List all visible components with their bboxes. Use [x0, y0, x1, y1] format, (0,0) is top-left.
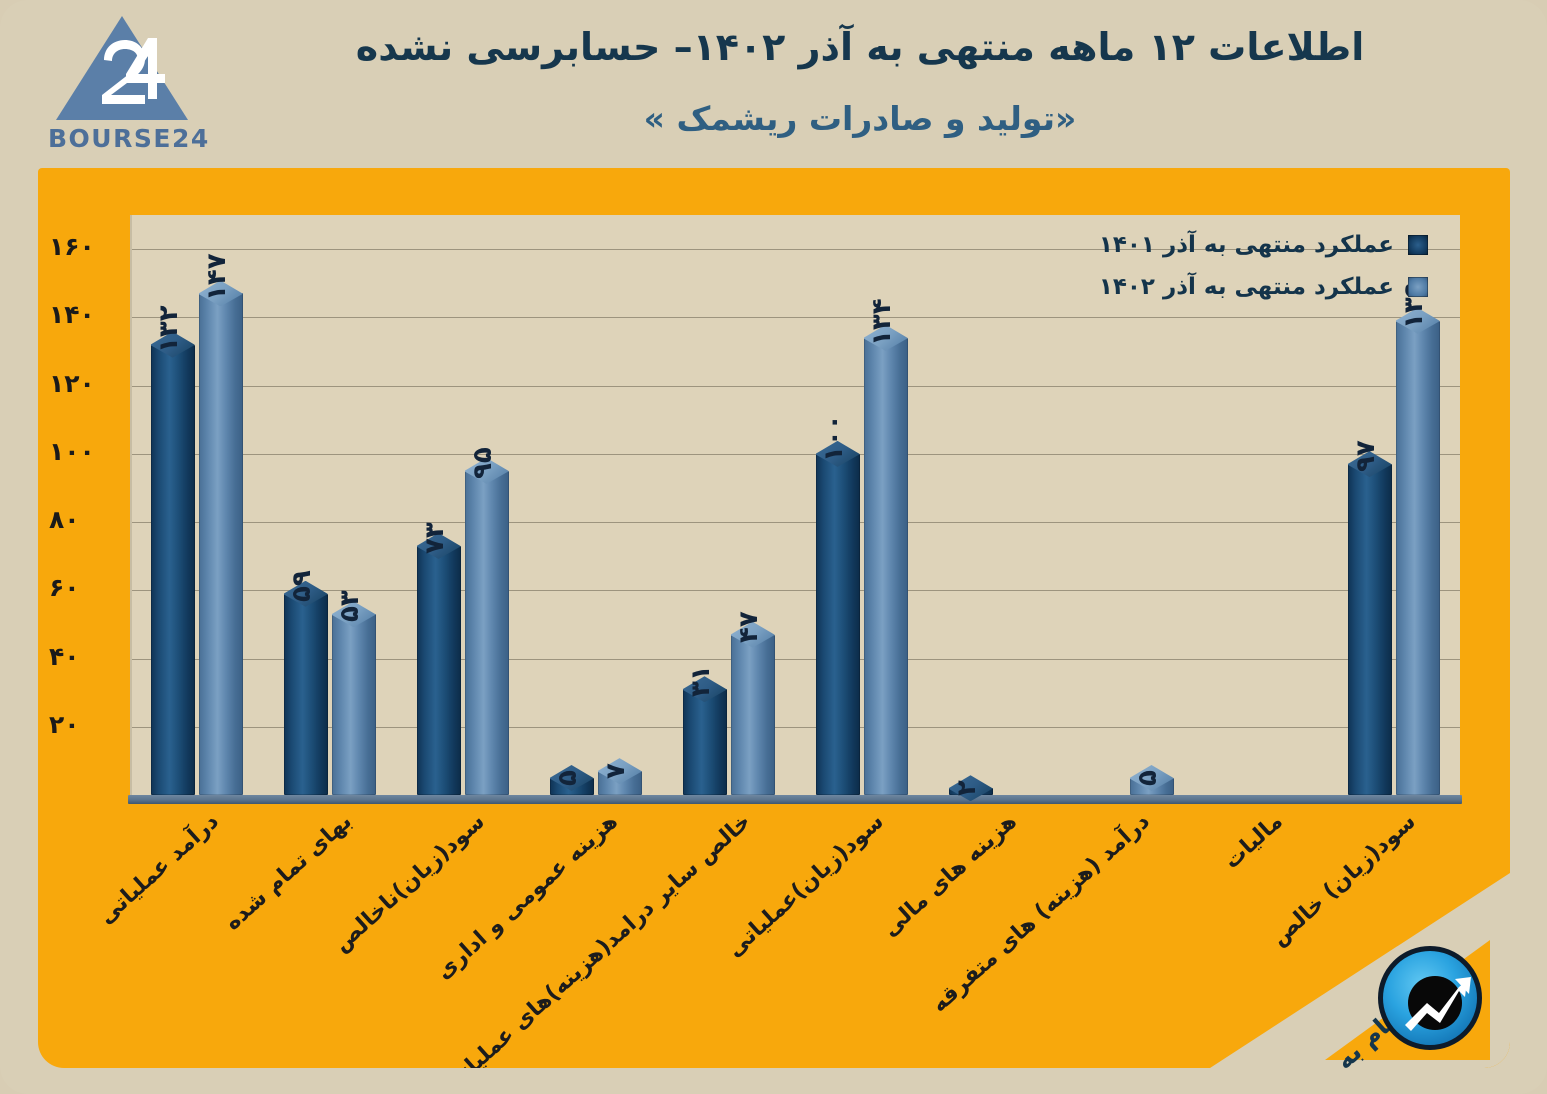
legend-swatch-icon — [1408, 277, 1428, 297]
chart-legend: عملکرد منتهی به آذر ۱۴۰۱عملکرد منتهی به … — [1098, 224, 1428, 308]
bar-value-label: ۹۵ — [468, 447, 498, 479]
title-block: اطلاعات ۱۲ ماهه منتهی به آذر ۱۴۰۲– حسابر… — [220, 22, 1500, 138]
gridline — [132, 522, 1460, 523]
bar-value-label: ۲ — [952, 780, 982, 796]
bourse24-arrow-badge-icon — [1378, 946, 1482, 1050]
bar-value-label: ۵۹ — [287, 570, 317, 602]
bar-value-label: ۵ — [1133, 770, 1163, 786]
y-axis-tick-label: ۸۰ — [49, 505, 123, 534]
gridline — [132, 386, 1460, 387]
bar-value-label: ۱۳۴ — [867, 298, 897, 346]
y-axis-tick-label: ۱۰۰ — [49, 437, 123, 466]
bar-series2 — [1396, 321, 1440, 795]
legend-item-label: عملکرد منتهی به آذر ۱۴۰۲ — [1099, 274, 1394, 300]
legend-item[interactable]: عملکرد منتهی به آذر ۱۴۰۲ — [1098, 266, 1428, 308]
gridline — [132, 454, 1460, 455]
y-axis-tick-label: ۱۴۰ — [49, 300, 123, 329]
y-axis-tick-label: ۲۰ — [49, 710, 123, 739]
bar-series2 — [864, 338, 908, 795]
bar-series1 — [683, 689, 727, 795]
bar-series2 — [199, 293, 243, 795]
y-axis-tick-label: ۶۰ — [49, 573, 123, 602]
bar-series1 — [417, 546, 461, 795]
page-title: اطلاعات ۱۲ ماهه منتهی به آذر ۱۴۰۲– حسابر… — [220, 22, 1500, 73]
y-axis-tick-label: ۴۰ — [49, 642, 123, 671]
bar-value-label: ۱۴۷ — [202, 254, 232, 302]
bar-value-label: ۵۳ — [335, 590, 365, 622]
bar-series2 — [465, 471, 509, 795]
bourse24-triangle-logo-icon — [52, 14, 192, 122]
bar-value-label: ۴۷ — [734, 611, 764, 643]
bar-value-label: ۹۷ — [1351, 440, 1381, 472]
bar-value-label: ۷۳ — [420, 522, 450, 554]
bar-series1 — [1348, 464, 1392, 795]
brand-logo: BOURSE24 — [34, 12, 214, 162]
bar-series1 — [816, 454, 860, 795]
bar-series2 — [731, 635, 775, 795]
legend-swatch-icon — [1408, 235, 1428, 255]
chart-page: BOURSE24 اطلاعات ۱۲ ماهه منتهی به آذر ۱۴… — [0, 0, 1547, 1094]
legend-item-label: عملکرد منتهی به آذر ۱۴۰۱ — [1099, 232, 1394, 258]
bar-series1 — [151, 345, 195, 795]
bar-value-label: ۱۰۰ — [819, 414, 849, 462]
y-axis-tick-label: ۱۶۰ — [49, 232, 123, 261]
gridline — [132, 590, 1460, 591]
gridline — [132, 317, 1460, 318]
bar-value-label: ۵ — [553, 770, 583, 786]
legend-item[interactable]: عملکرد منتهی به آذر ۱۴۰۱ — [1098, 224, 1428, 266]
bar-series2 — [332, 614, 376, 795]
page-subtitle: «تولید و صادرات ریشمک » — [220, 99, 1500, 138]
bar-value-label: ۱۳۲ — [154, 305, 184, 353]
bar-value-label: ۳۱ — [686, 665, 716, 697]
bar-value-label: ۷ — [601, 763, 631, 779]
brand-logo-text: BOURSE24 — [48, 124, 208, 153]
page-header: BOURSE24 اطلاعات ۱۲ ماهه منتهی به آذر ۱۴… — [0, 0, 1547, 168]
y-axis-tick-label: ۱۲۰ — [49, 369, 123, 398]
bar-series1 — [284, 594, 328, 795]
x-axis-baseline — [128, 795, 1462, 804]
chart-panel: ۱۶۰۱۴۰۱۲۰۱۰۰۸۰۶۰۴۰۲۰ ۱۳۲۱۴۷۵۹۵۳۷۳۹۵۵۷۳۱۴… — [38, 168, 1510, 1068]
